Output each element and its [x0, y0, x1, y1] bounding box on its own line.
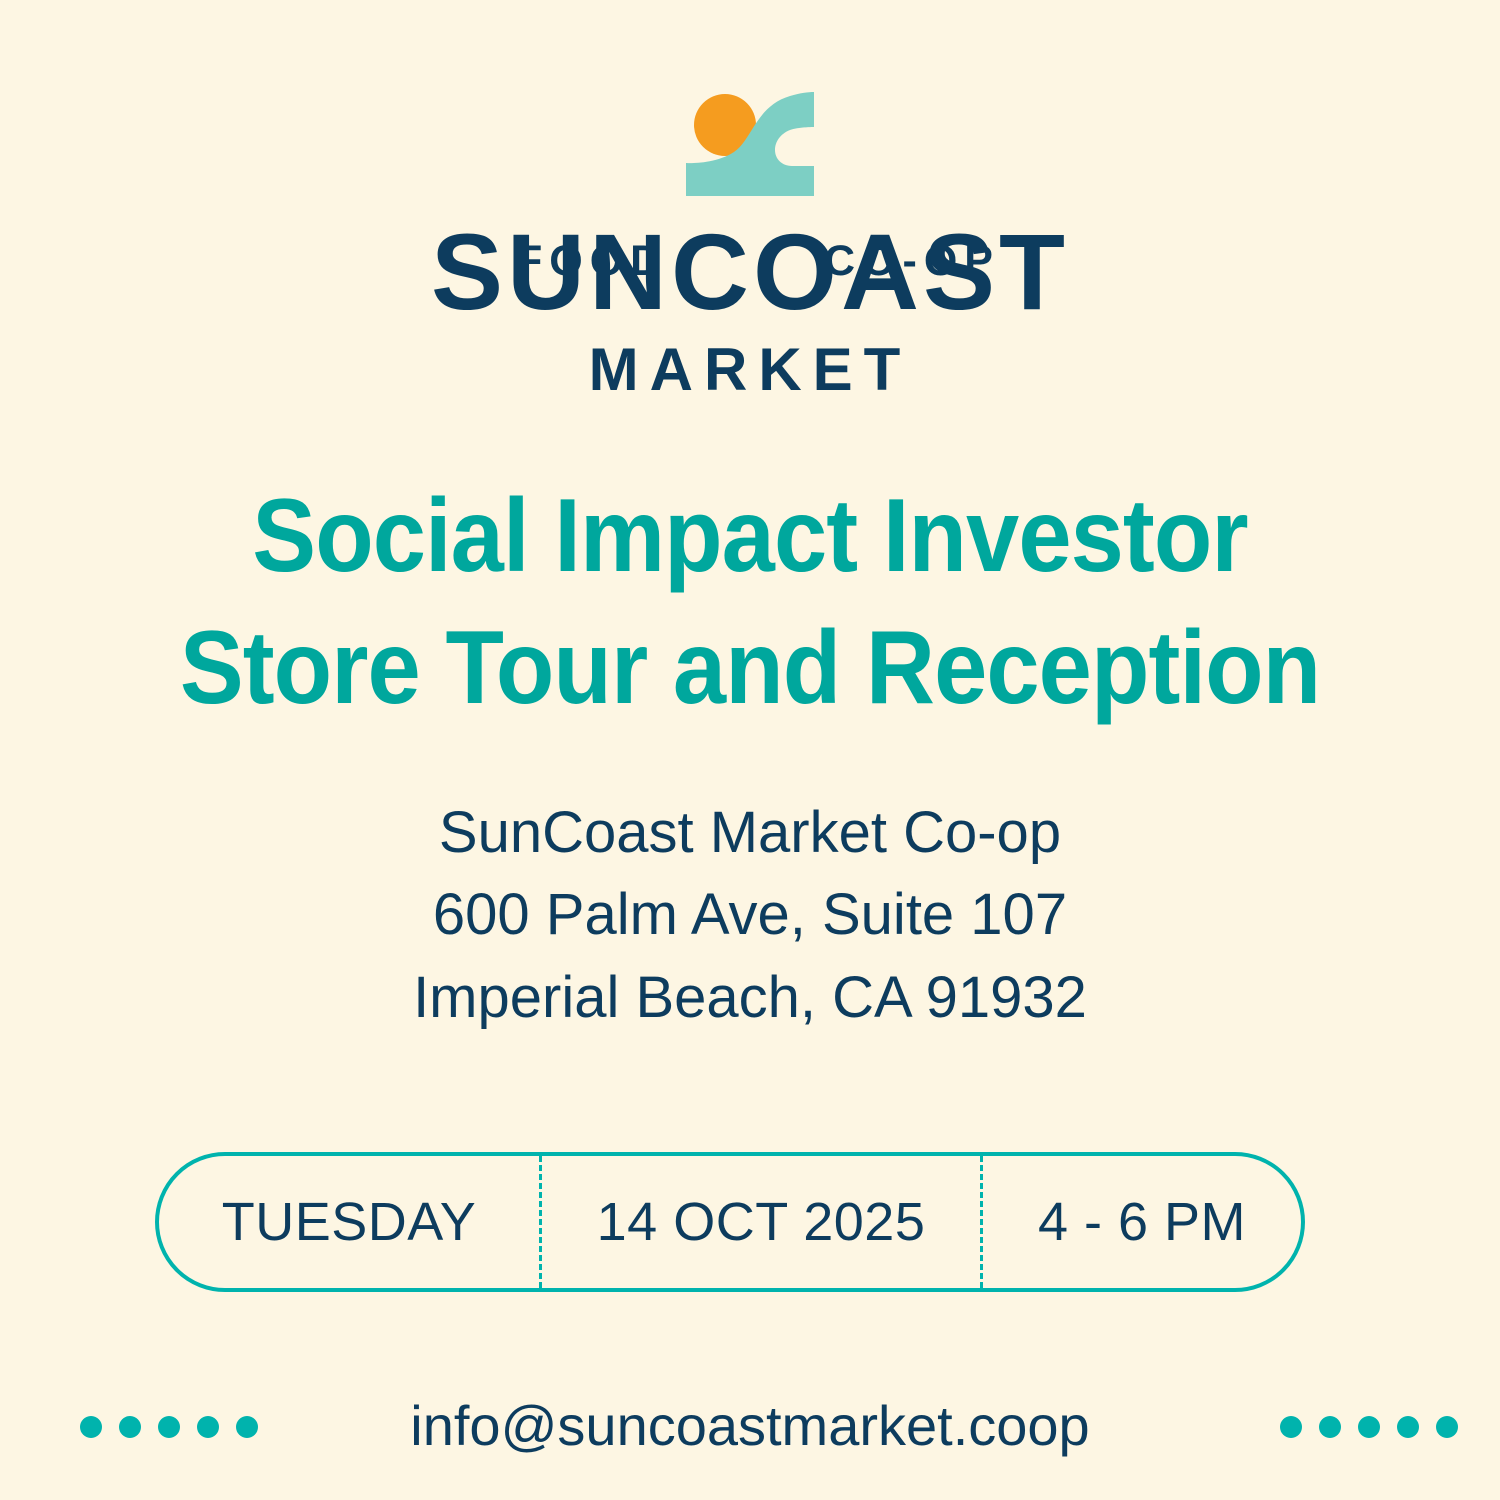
logo-top-row: FOOD CO-OP: [0, 88, 1500, 196]
event-headline-line-2: Store Tour and Reception: [60, 602, 1440, 734]
event-date: 14 OCT 2025: [539, 1156, 983, 1288]
dot-icon: [1280, 1416, 1302, 1438]
event-headline-line-1: Social Impact Investor: [60, 470, 1440, 602]
logo-brand-secondary: MARKET: [0, 340, 1500, 400]
event-time: 4 - 6 PM: [983, 1156, 1301, 1288]
venue-name: SunCoast Market Co-op: [0, 792, 1500, 874]
logo-brand-primary: SUNCOAST: [0, 218, 1500, 326]
event-flyer: FOOD CO-OP SUNCOAST MARKET Social Impact…: [0, 0, 1500, 1500]
decorative-dots-right: [1280, 1416, 1458, 1438]
venue-city-state-zip: Imperial Beach, CA 91932: [0, 957, 1500, 1039]
event-headline: Social Impact Investor Store Tour and Re…: [0, 470, 1500, 734]
event-day-of-week: TUESDAY: [159, 1156, 539, 1288]
dot-icon: [1397, 1416, 1419, 1438]
venue-street: 600 Palm Ave, Suite 107: [0, 874, 1500, 956]
event-datetime-pill: TUESDAY 14 OCT 2025 4 - 6 PM: [155, 1152, 1305, 1292]
sun-and-wave-logo-mark: [686, 88, 814, 196]
dot-icon: [1436, 1416, 1458, 1438]
brand-logo: FOOD CO-OP SUNCOAST MARKET: [0, 88, 1500, 196]
dot-icon: [1358, 1416, 1380, 1438]
venue-address: SunCoast Market Co-op 600 Palm Ave, Suit…: [0, 792, 1500, 1039]
contact-email[interactable]: info@suncoastmarket.coop: [0, 1398, 1500, 1454]
dot-icon: [1319, 1416, 1341, 1438]
